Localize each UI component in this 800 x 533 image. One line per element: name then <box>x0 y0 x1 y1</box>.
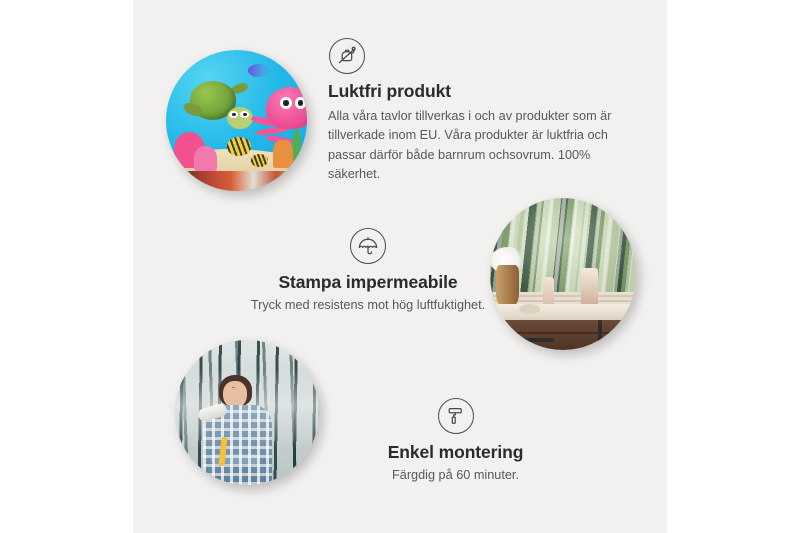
turtle-head <box>227 107 253 128</box>
woman-figure <box>198 375 284 485</box>
underwater-cartoon-mural-photo <box>166 50 307 191</box>
turtle-eye-left <box>229 111 238 118</box>
woman-smile <box>232 387 235 388</box>
feature-waterproof: Stampa impermeabile Tryck med resistens … <box>208 228 528 315</box>
infographic-stage: Luktfri produkt Alla våra tavlor tillver… <box>0 0 800 533</box>
crossed-arms <box>210 454 260 464</box>
feature-description: Färgdig på 60 minuter. <box>328 466 583 485</box>
feature-title: Stampa impermeabile <box>208 272 528 293</box>
feature-title: Enkel montering <box>328 442 583 463</box>
turtle-eye-right <box>240 111 249 118</box>
striped-fish-large <box>227 137 251 155</box>
photo-bottom-strip <box>166 171 307 191</box>
vanity-drawer-seam <box>508 332 625 334</box>
blue-fish-icon <box>248 64 269 77</box>
soap-bottle-small <box>543 277 555 307</box>
soap-bottle-large <box>581 268 599 309</box>
feature-odourless: Luktfri produkt Alla våra tavlor tillver… <box>328 38 633 184</box>
feature-description: Tryck med resistens mot hög luftfuktighe… <box>208 296 528 315</box>
coral-light-pink <box>194 146 217 171</box>
sea-turtle-figure <box>186 81 251 132</box>
coral-orange <box>273 140 293 168</box>
woman-face <box>223 381 247 407</box>
striped-fish-small <box>251 154 268 167</box>
woman-with-paint-roller-photo <box>175 340 319 485</box>
umbrella-icon <box>350 228 386 264</box>
octopus-body <box>266 87 307 130</box>
forest-mural-scene <box>175 340 319 485</box>
seagrass <box>292 129 302 166</box>
cabinet-handle <box>598 320 602 344</box>
paint-roller-icon <box>438 398 474 434</box>
no-odour-perfume-bottle-icon <box>329 38 365 74</box>
wood-vanity-cabinet <box>505 320 628 350</box>
octopus-eye-right <box>295 97 307 109</box>
ocean-scene <box>166 50 307 191</box>
infographic-panel: Luktfri produkt Alla våra tavlor tillver… <box>133 0 667 533</box>
feature-description: Alla våra tavlor tillverkas i och av pro… <box>328 107 633 184</box>
feature-title: Luktfri produkt <box>328 81 633 102</box>
drawer-handle <box>522 338 554 342</box>
octopus-eye-left <box>280 97 292 109</box>
feature-mounting: Enkel montering Färgdig på 60 minuter. <box>328 398 583 485</box>
